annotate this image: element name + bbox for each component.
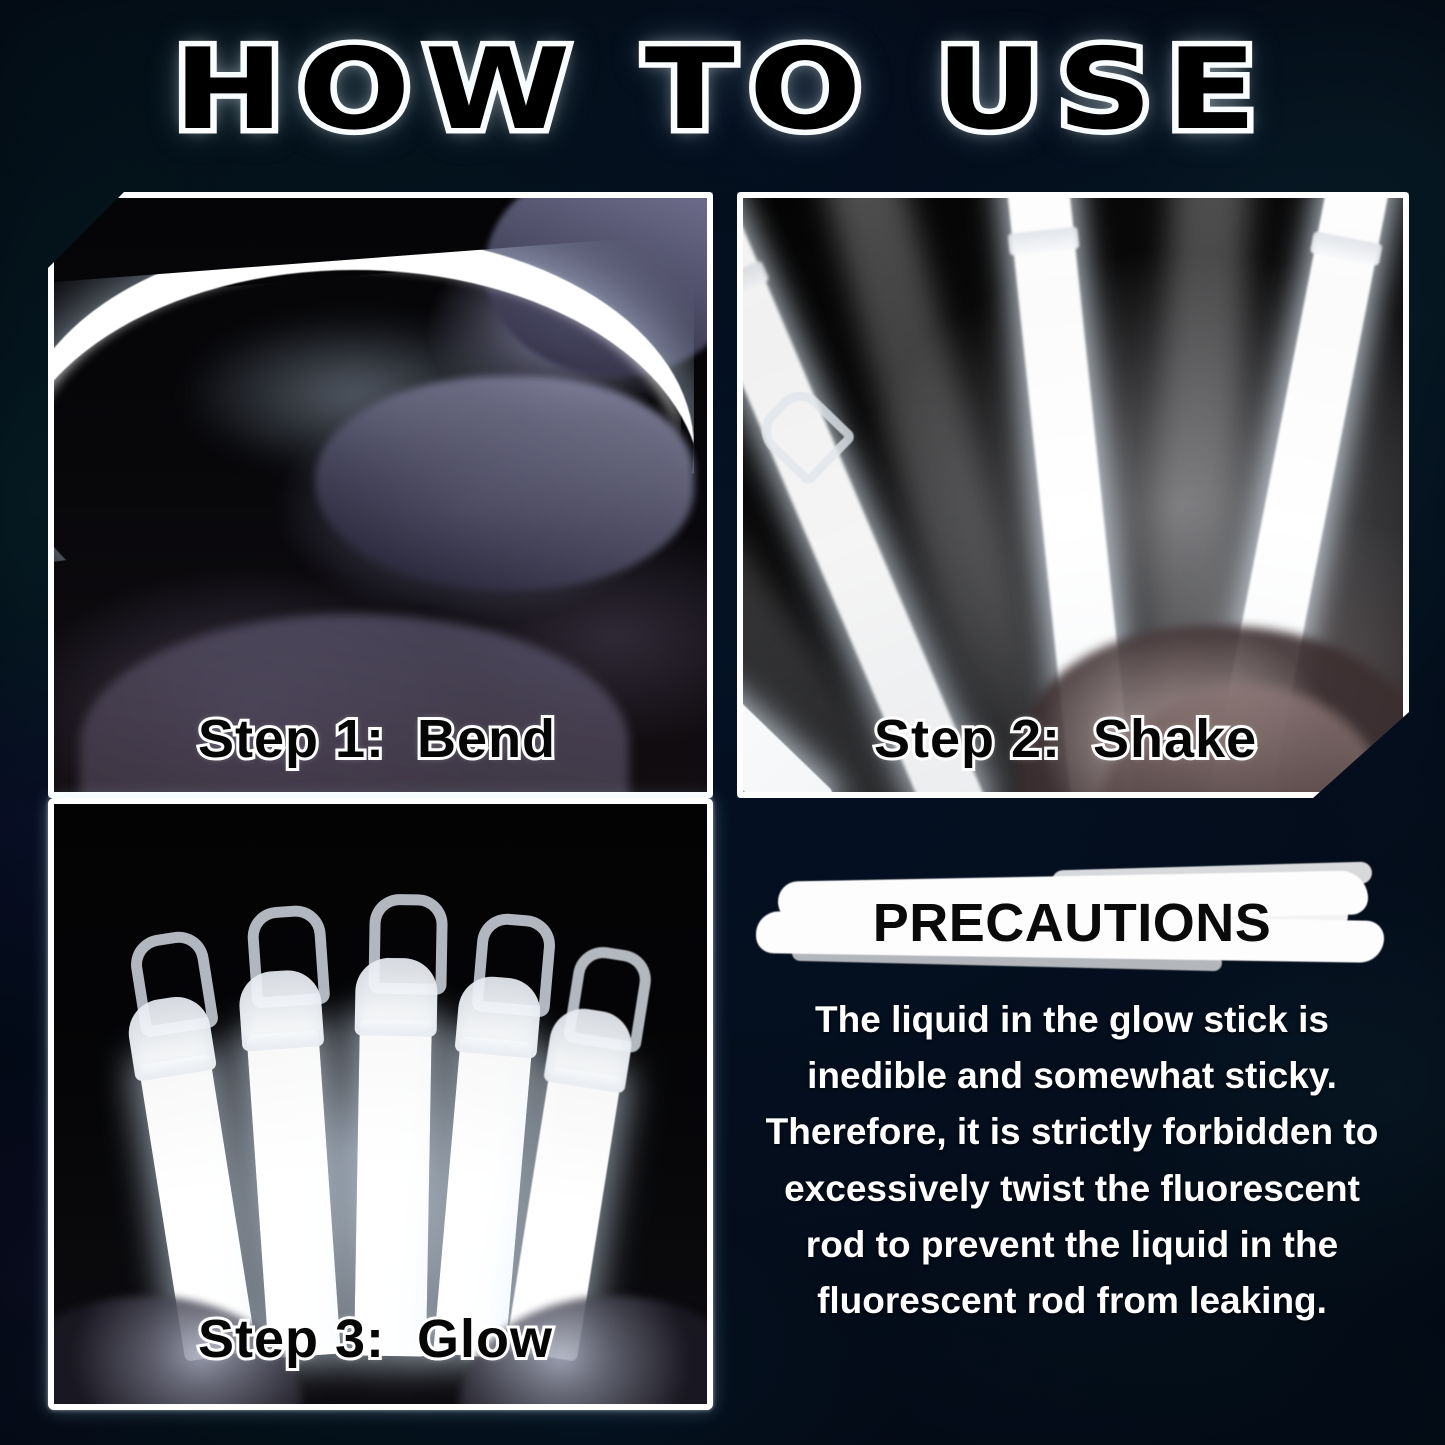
precautions-heading: PRECAUTIONS [752, 892, 1392, 954]
page-title-container: HOW TO USE [0, 34, 1445, 146]
thumb [80, 614, 629, 798]
page-title: HOW TO USE [174, 34, 1272, 146]
precautions-section: PRECAUTIONS The liquid in the glow stick… [742, 862, 1402, 1329]
precautions-body: The liquid in the glow stick is inedible… [742, 992, 1402, 1329]
precautions-line: fluorescent rod from leaking. [742, 1273, 1402, 1329]
precautions-line: The liquid in the glow stick is [742, 992, 1402, 1048]
precautions-line: Therefore, it is strictly forbidden to [742, 1104, 1402, 1160]
glowstick [354, 1019, 432, 1356]
step-label-bend: Step 1: Bend [198, 708, 556, 770]
step-label-glow: Step 3: Glow [198, 1308, 553, 1370]
brush-stroke-banner: PRECAUTIONS [752, 862, 1392, 974]
precautions-line: rod to prevent the liquid in the [742, 1217, 1402, 1273]
precautions-line: excessively twist the fluorescent [742, 1161, 1402, 1217]
photo-bend-glowstick [54, 198, 707, 792]
stick-cap [454, 974, 542, 1059]
stick-cap [238, 968, 325, 1052]
photo-shake-glowsticks [743, 198, 1403, 792]
finger-middle [315, 376, 694, 590]
step-label-shake: Step 2: Shake [874, 708, 1257, 770]
stick-cap [355, 957, 438, 1036]
infographic-page: HOW TO USE Step 1: Bend Step 2: [0, 0, 1445, 1445]
precautions-line: inedible and somewhat sticky. [742, 1048, 1402, 1104]
